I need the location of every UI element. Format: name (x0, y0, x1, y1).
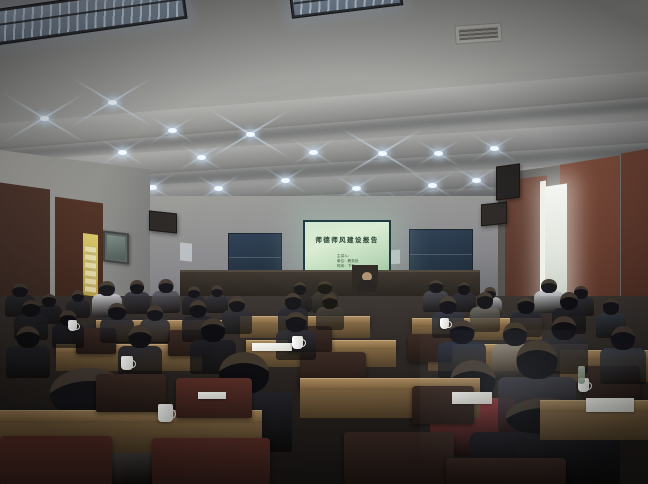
recessed-downlight-icon (118, 150, 127, 155)
head (518, 297, 535, 314)
handout-paper (252, 343, 292, 351)
head (285, 293, 301, 310)
recessed-downlight-icon (168, 128, 177, 133)
handout-paper (452, 392, 492, 404)
wall-speaker-icon (481, 202, 507, 227)
paper-cup (68, 320, 77, 331)
torso (600, 348, 646, 384)
head (603, 298, 619, 315)
head (552, 316, 577, 340)
recessed-downlight-icon (472, 178, 481, 183)
head (108, 303, 126, 320)
head (477, 292, 493, 309)
recessed-downlight-icon (434, 151, 443, 156)
framed-picture (103, 230, 129, 264)
recessed-downlight-icon (40, 116, 49, 121)
head (318, 281, 332, 294)
head (188, 286, 200, 298)
handout-paper (586, 398, 634, 412)
chair (446, 458, 566, 484)
chair (0, 436, 112, 484)
head (517, 340, 558, 379)
wall-speaker-icon (496, 163, 520, 200)
head (458, 282, 470, 295)
handout-paper (198, 392, 226, 399)
chair (96, 374, 166, 412)
chair (344, 432, 454, 484)
recessed-downlight-icon (214, 186, 223, 191)
recessed-downlight-icon (352, 186, 361, 191)
recessed-downlight-icon (378, 151, 387, 156)
recessed-downlight-icon (309, 150, 318, 155)
head (190, 300, 207, 318)
recessed-downlight-icon (108, 100, 117, 105)
head (440, 296, 457, 314)
head (286, 312, 307, 332)
presenter (357, 272, 376, 292)
chair (152, 438, 270, 484)
head (129, 325, 152, 348)
desk-front-panel (540, 412, 648, 440)
paper-cup (121, 356, 133, 370)
head (541, 279, 557, 293)
fluorescent-troffer-light-icon (0, 0, 188, 45)
head (147, 305, 163, 321)
head (99, 281, 115, 296)
head (560, 292, 578, 310)
air-vent-icon (454, 22, 502, 44)
fluorescent-troffer-light-icon (289, 0, 404, 19)
head (323, 294, 338, 309)
recessed-downlight-icon (490, 146, 499, 151)
head (130, 280, 144, 294)
recessed-downlight-icon (428, 183, 437, 188)
wall-notice (180, 242, 192, 261)
recessed-downlight-icon (197, 155, 206, 160)
attendee (316, 294, 344, 330)
torso (316, 307, 344, 330)
head (450, 320, 475, 344)
head (17, 326, 40, 348)
head (429, 280, 443, 293)
head (611, 326, 635, 350)
paper-cup (292, 336, 303, 349)
slide-title: 师德师风建设报告 (312, 234, 383, 244)
head (72, 290, 84, 302)
conference-room-photo: 师德师风建设报告 主讲人： 单位：教务处 时间：下午 (0, 0, 648, 484)
water-bottle (578, 366, 585, 384)
recessed-downlight-icon (281, 178, 290, 183)
attendee (600, 326, 646, 384)
head (159, 279, 174, 293)
head (201, 318, 225, 342)
head (212, 285, 223, 297)
head (22, 300, 40, 317)
paper-cup (158, 404, 173, 422)
recessed-downlight-icon (246, 132, 255, 137)
wall-speaker-icon (149, 211, 177, 234)
head (229, 296, 245, 312)
paper-cup (440, 318, 449, 329)
head (12, 283, 28, 297)
